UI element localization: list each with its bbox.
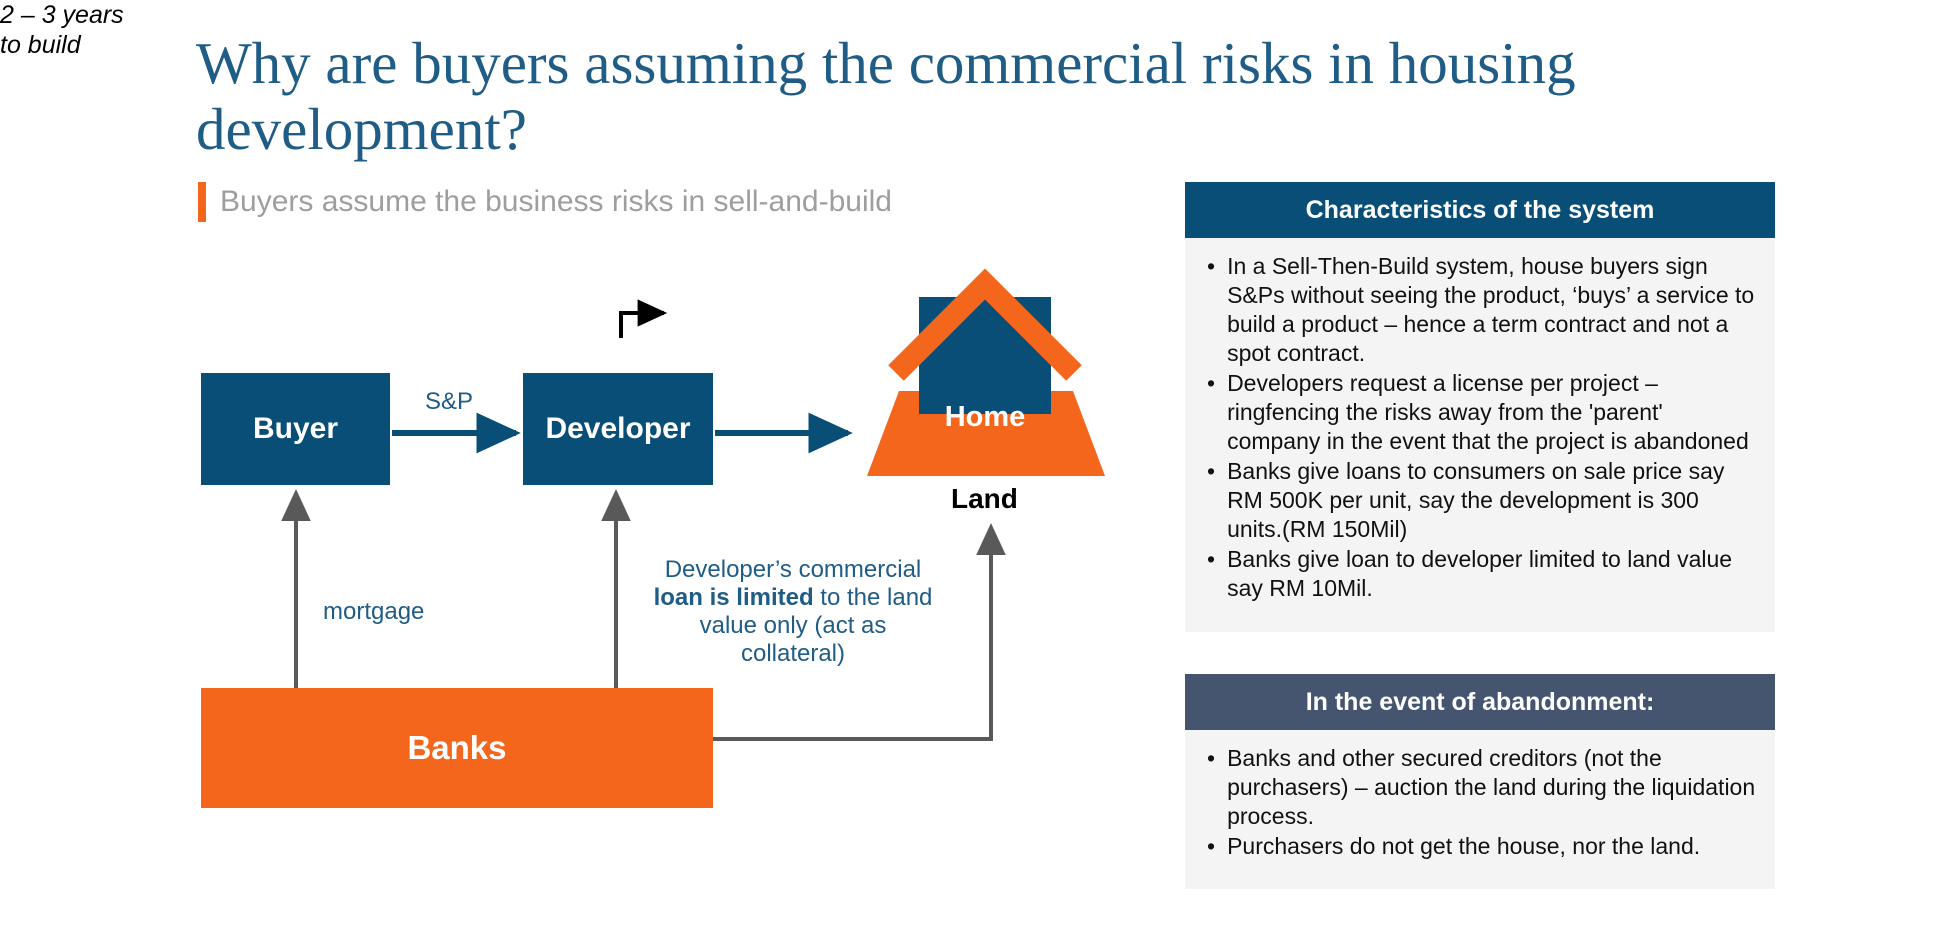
node-developer-label: Developer — [545, 412, 690, 446]
list-item-text: In a Sell-Then-Build system, house buyer… — [1227, 252, 1757, 368]
panel-abandonment: In the event of abandonment: • Banks and… — [1185, 674, 1775, 889]
label-developer-loan-bold: loan is limited — [654, 584, 814, 611]
label-developer-loan: Developer’s commercial loan is limited t… — [648, 556, 938, 668]
bullet-icon: • — [1207, 832, 1215, 861]
list-item: • Purchasers do not get the house, nor t… — [1207, 832, 1757, 861]
bullet-icon: • — [1207, 744, 1215, 831]
node-banks[interactable]: Banks — [201, 688, 713, 808]
process-diagram: Buyer Developer Banks Home Land S&P mort… — [0, 0, 1180, 938]
panel-abandonment-title: In the event of abandonment: — [1185, 674, 1775, 730]
label-sp: S&P — [425, 388, 473, 416]
label-developer-loan-part1: Developer’s commercial — [665, 556, 922, 583]
node-developer[interactable]: Developer — [523, 373, 713, 485]
house-illustration — [867, 284, 1105, 476]
list-item: • Banks give loans to consumers on sale … — [1207, 457, 1757, 544]
panel-abandonment-body: • Banks and other secured creditors (not… — [1185, 730, 1775, 880]
list-item-text: Banks give loans to consumers on sale pr… — [1227, 457, 1757, 544]
node-land-label: Land — [951, 483, 1018, 515]
list-item: • Banks give loan to developer limited t… — [1207, 545, 1757, 603]
list-item: • Developers request a license per proje… — [1207, 369, 1757, 456]
node-buyer[interactable]: Buyer — [201, 373, 390, 485]
panel-characteristics: Characteristics of the system • In a Sel… — [1185, 182, 1775, 632]
bullet-icon: • — [1207, 545, 1215, 603]
home-body-shape — [919, 297, 1051, 414]
bullet-icon: • — [1207, 457, 1215, 544]
node-home-label: Home — [925, 401, 1045, 434]
bullet-icon: • — [1207, 369, 1215, 456]
panel-characteristics-title: Characteristics of the system — [1185, 182, 1775, 238]
list-item-text: Banks and other secured creditors (not t… — [1227, 744, 1757, 831]
list-item: • Banks and other secured creditors (not… — [1207, 744, 1757, 831]
list-item: • In a Sell-Then-Build system, house buy… — [1207, 252, 1757, 368]
node-banks-label: Banks — [407, 729, 506, 767]
panel-characteristics-body: • In a Sell-Then-Build system, house buy… — [1185, 238, 1775, 622]
node-buyer-label: Buyer — [253, 412, 338, 446]
list-item-text: Banks give loan to developer limited to … — [1227, 545, 1757, 603]
list-item-text: Purchasers do not get the house, nor the… — [1227, 832, 1700, 861]
list-item-text: Developers request a license per project… — [1227, 369, 1757, 456]
bullet-icon: • — [1207, 252, 1215, 368]
label-mortgage: mortgage — [323, 598, 424, 626]
slide: Why are buyers assuming the commercial r… — [0, 0, 1947, 938]
arrow-build-duration — [621, 313, 664, 338]
